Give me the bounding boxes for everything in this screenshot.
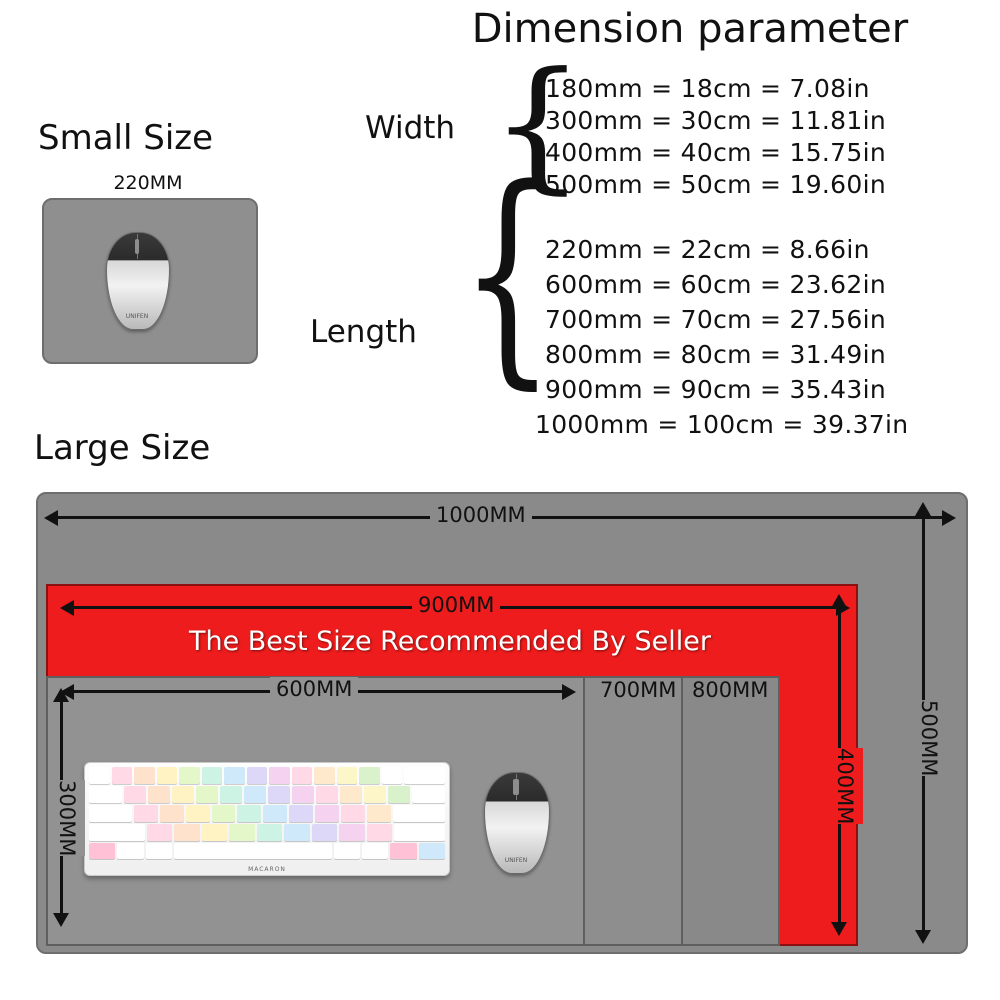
- key: [134, 767, 155, 784]
- length-row-1: 600mm = 60cm = 23.62in: [545, 270, 886, 299]
- width-row-0: 180mm = 18cm = 7.08in: [545, 74, 870, 103]
- key: [315, 805, 339, 822]
- arrow-down-500mm-icon: [915, 930, 931, 944]
- mouse-brand-label-large: UNIFEN: [484, 857, 548, 864]
- arrow-up-500mm-icon: [915, 502, 931, 516]
- label-900mm: 900MM: [412, 593, 500, 617]
- key: [157, 767, 178, 784]
- key: [202, 824, 227, 841]
- keyboard-row: [89, 843, 445, 859]
- large-size-title: Large Size: [34, 428, 210, 468]
- mouse-wheel-icon: [513, 779, 518, 795]
- key: [340, 786, 362, 803]
- key: [284, 824, 309, 841]
- key-spacebar: [174, 843, 332, 859]
- page-title: Dimension parameter: [390, 6, 990, 52]
- width-row-2: 400mm = 40cm = 15.75in: [545, 138, 886, 167]
- arrow-left-1000mm-icon: [44, 510, 58, 526]
- mouse-brand-label-small: UNIFEN: [106, 313, 168, 320]
- key: [412, 786, 445, 803]
- key: [292, 786, 314, 803]
- key: [146, 843, 172, 859]
- key: [362, 843, 388, 859]
- key: [393, 805, 445, 822]
- key: [247, 767, 268, 784]
- keyboard-row: [89, 786, 445, 803]
- key: [244, 786, 266, 803]
- length-brace-icon: {: [460, 159, 555, 392]
- key: [364, 786, 386, 803]
- keyboard-row: [89, 767, 445, 784]
- key: [89, 843, 115, 859]
- key: [134, 805, 158, 822]
- small-size-title: Small Size: [38, 118, 213, 158]
- key: [148, 786, 170, 803]
- key: [224, 767, 245, 784]
- key: [419, 843, 445, 859]
- length-row-5: 1000mm = 100cm = 39.37in: [535, 410, 908, 439]
- key: [89, 767, 110, 784]
- key: [268, 786, 290, 803]
- key: [382, 767, 403, 784]
- key: [316, 786, 338, 803]
- key: [263, 805, 287, 822]
- arrow-up-300mm-icon: [53, 688, 69, 702]
- key: [174, 824, 199, 841]
- key: [269, 767, 290, 784]
- key: [196, 786, 218, 803]
- label-600mm: 600MM: [270, 677, 358, 701]
- key: [359, 767, 380, 784]
- keyboard-graphic: MACARON: [84, 762, 450, 876]
- arrow-up-400mm-icon: [831, 594, 847, 608]
- key: [237, 805, 261, 822]
- key: [314, 767, 335, 784]
- keyboard-row: [89, 824, 445, 841]
- key: [337, 767, 358, 784]
- key: [367, 824, 392, 841]
- keyboard-brand-label: MACARON: [85, 866, 449, 873]
- mouse-wheel-icon: [135, 239, 140, 254]
- key: [89, 805, 132, 822]
- key: [404, 767, 445, 784]
- label-500mm: 500MM: [911, 700, 947, 776]
- key: [112, 767, 133, 784]
- key: [388, 786, 410, 803]
- key: [89, 786, 122, 803]
- arrow-left-900mm-icon: [60, 600, 74, 616]
- small-pad-width-label: 220MM: [42, 172, 254, 194]
- arrow-right-1000mm-icon: [942, 510, 956, 526]
- key: [186, 805, 210, 822]
- key: [202, 767, 223, 784]
- length-group-label: Length: [310, 314, 417, 350]
- width-row-1: 300mm = 30cm = 11.81in: [545, 106, 886, 135]
- key: [394, 824, 445, 841]
- best-size-recommendation-text: The Best Size Recommended By Seller: [46, 626, 854, 657]
- key: [147, 824, 172, 841]
- key: [117, 843, 143, 859]
- label-700mm: 700MM: [594, 678, 682, 702]
- key: [390, 843, 416, 859]
- keyboard-row: [89, 805, 445, 822]
- key: [179, 767, 200, 784]
- key: [212, 805, 236, 822]
- length-row-2: 700mm = 70cm = 27.56in: [545, 305, 886, 334]
- length-row-0: 220mm = 22cm = 8.66in: [545, 235, 870, 264]
- key: [339, 824, 364, 841]
- key: [172, 786, 194, 803]
- length-row-3: 800mm = 80cm = 31.49in: [545, 340, 886, 369]
- arrow-right-600mm-icon: [562, 684, 576, 700]
- key: [334, 843, 360, 859]
- mouse-graphic-small: UNIFEN: [106, 232, 168, 328]
- arrow-down-400mm-icon: [831, 922, 847, 936]
- key: [367, 805, 391, 822]
- key: [229, 824, 254, 841]
- mouse-graphic-large: UNIFEN: [484, 772, 548, 872]
- label-300mm: 300MM: [49, 780, 85, 856]
- label-400mm: 400MM: [827, 748, 863, 824]
- key: [312, 824, 337, 841]
- length-row-4: 900mm = 90cm = 35.43in: [545, 375, 886, 404]
- key: [289, 805, 313, 822]
- small-mousepad: UNIFEN: [42, 198, 258, 364]
- key: [292, 767, 313, 784]
- width-group-label: Width: [365, 110, 455, 146]
- key: [124, 786, 146, 803]
- label-800mm: 800MM: [686, 678, 774, 702]
- arrow-down-300mm-icon: [53, 913, 69, 927]
- key: [220, 786, 242, 803]
- width-row-3: 500mm = 50cm = 19.60in: [545, 170, 886, 199]
- label-1000mm: 1000MM: [430, 503, 532, 527]
- key: [257, 824, 282, 841]
- key: [89, 824, 145, 841]
- key: [341, 805, 365, 822]
- key: [160, 805, 184, 822]
